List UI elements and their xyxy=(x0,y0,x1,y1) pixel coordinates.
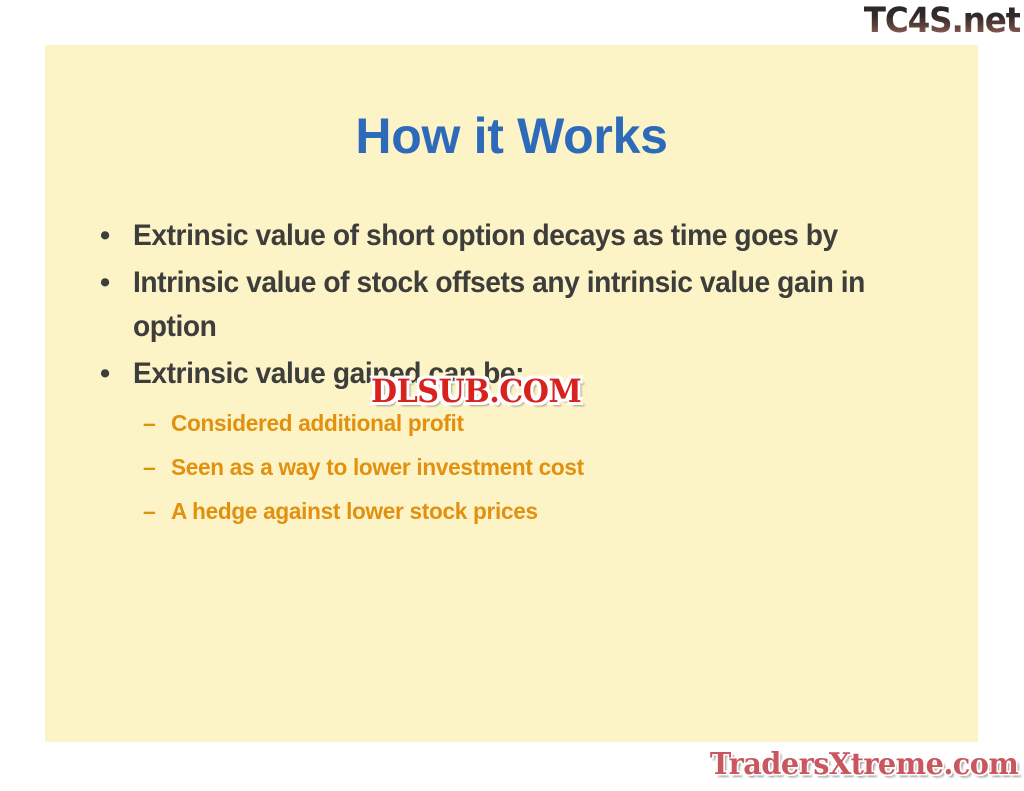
bullet-dot-icon: • xyxy=(95,214,133,258)
list-item: • Extrinsic value of short option decays… xyxy=(95,214,945,258)
bullet-dot-icon: • xyxy=(95,261,133,305)
watermark-tradersxtreme-logo: TradersXtreme.com xyxy=(710,747,1018,783)
bullet-dot-icon: • xyxy=(95,352,133,396)
page-title: How it Works xyxy=(45,111,978,161)
watermark-dlsub-logo: DLSUB.COM xyxy=(371,372,581,410)
bullet-dash-icon: – xyxy=(143,448,171,486)
bullet-dash-icon: – xyxy=(143,404,171,442)
list-item-label: Extrinsic value of short option decays a… xyxy=(133,214,908,258)
sub-bullet-list: – Considered additional profit – Seen as… xyxy=(143,404,945,530)
sub-list-item-label: Seen as a way to lower investment cost xyxy=(171,448,914,486)
bullet-dash-icon: – xyxy=(143,492,171,530)
list-item-label: Intrinsic value of stock offsets any int… xyxy=(133,261,908,349)
watermark-tc4s-logo: TC4S.net xyxy=(864,1,1020,41)
sub-list-item-label: A hedge against lower stock prices xyxy=(171,492,914,530)
sub-list-item: – Seen as a way to lower investment cost xyxy=(143,448,945,486)
list-item: • Intrinsic value of stock offsets any i… xyxy=(95,261,945,349)
sub-list-item: – A hedge against lower stock prices xyxy=(143,492,945,530)
